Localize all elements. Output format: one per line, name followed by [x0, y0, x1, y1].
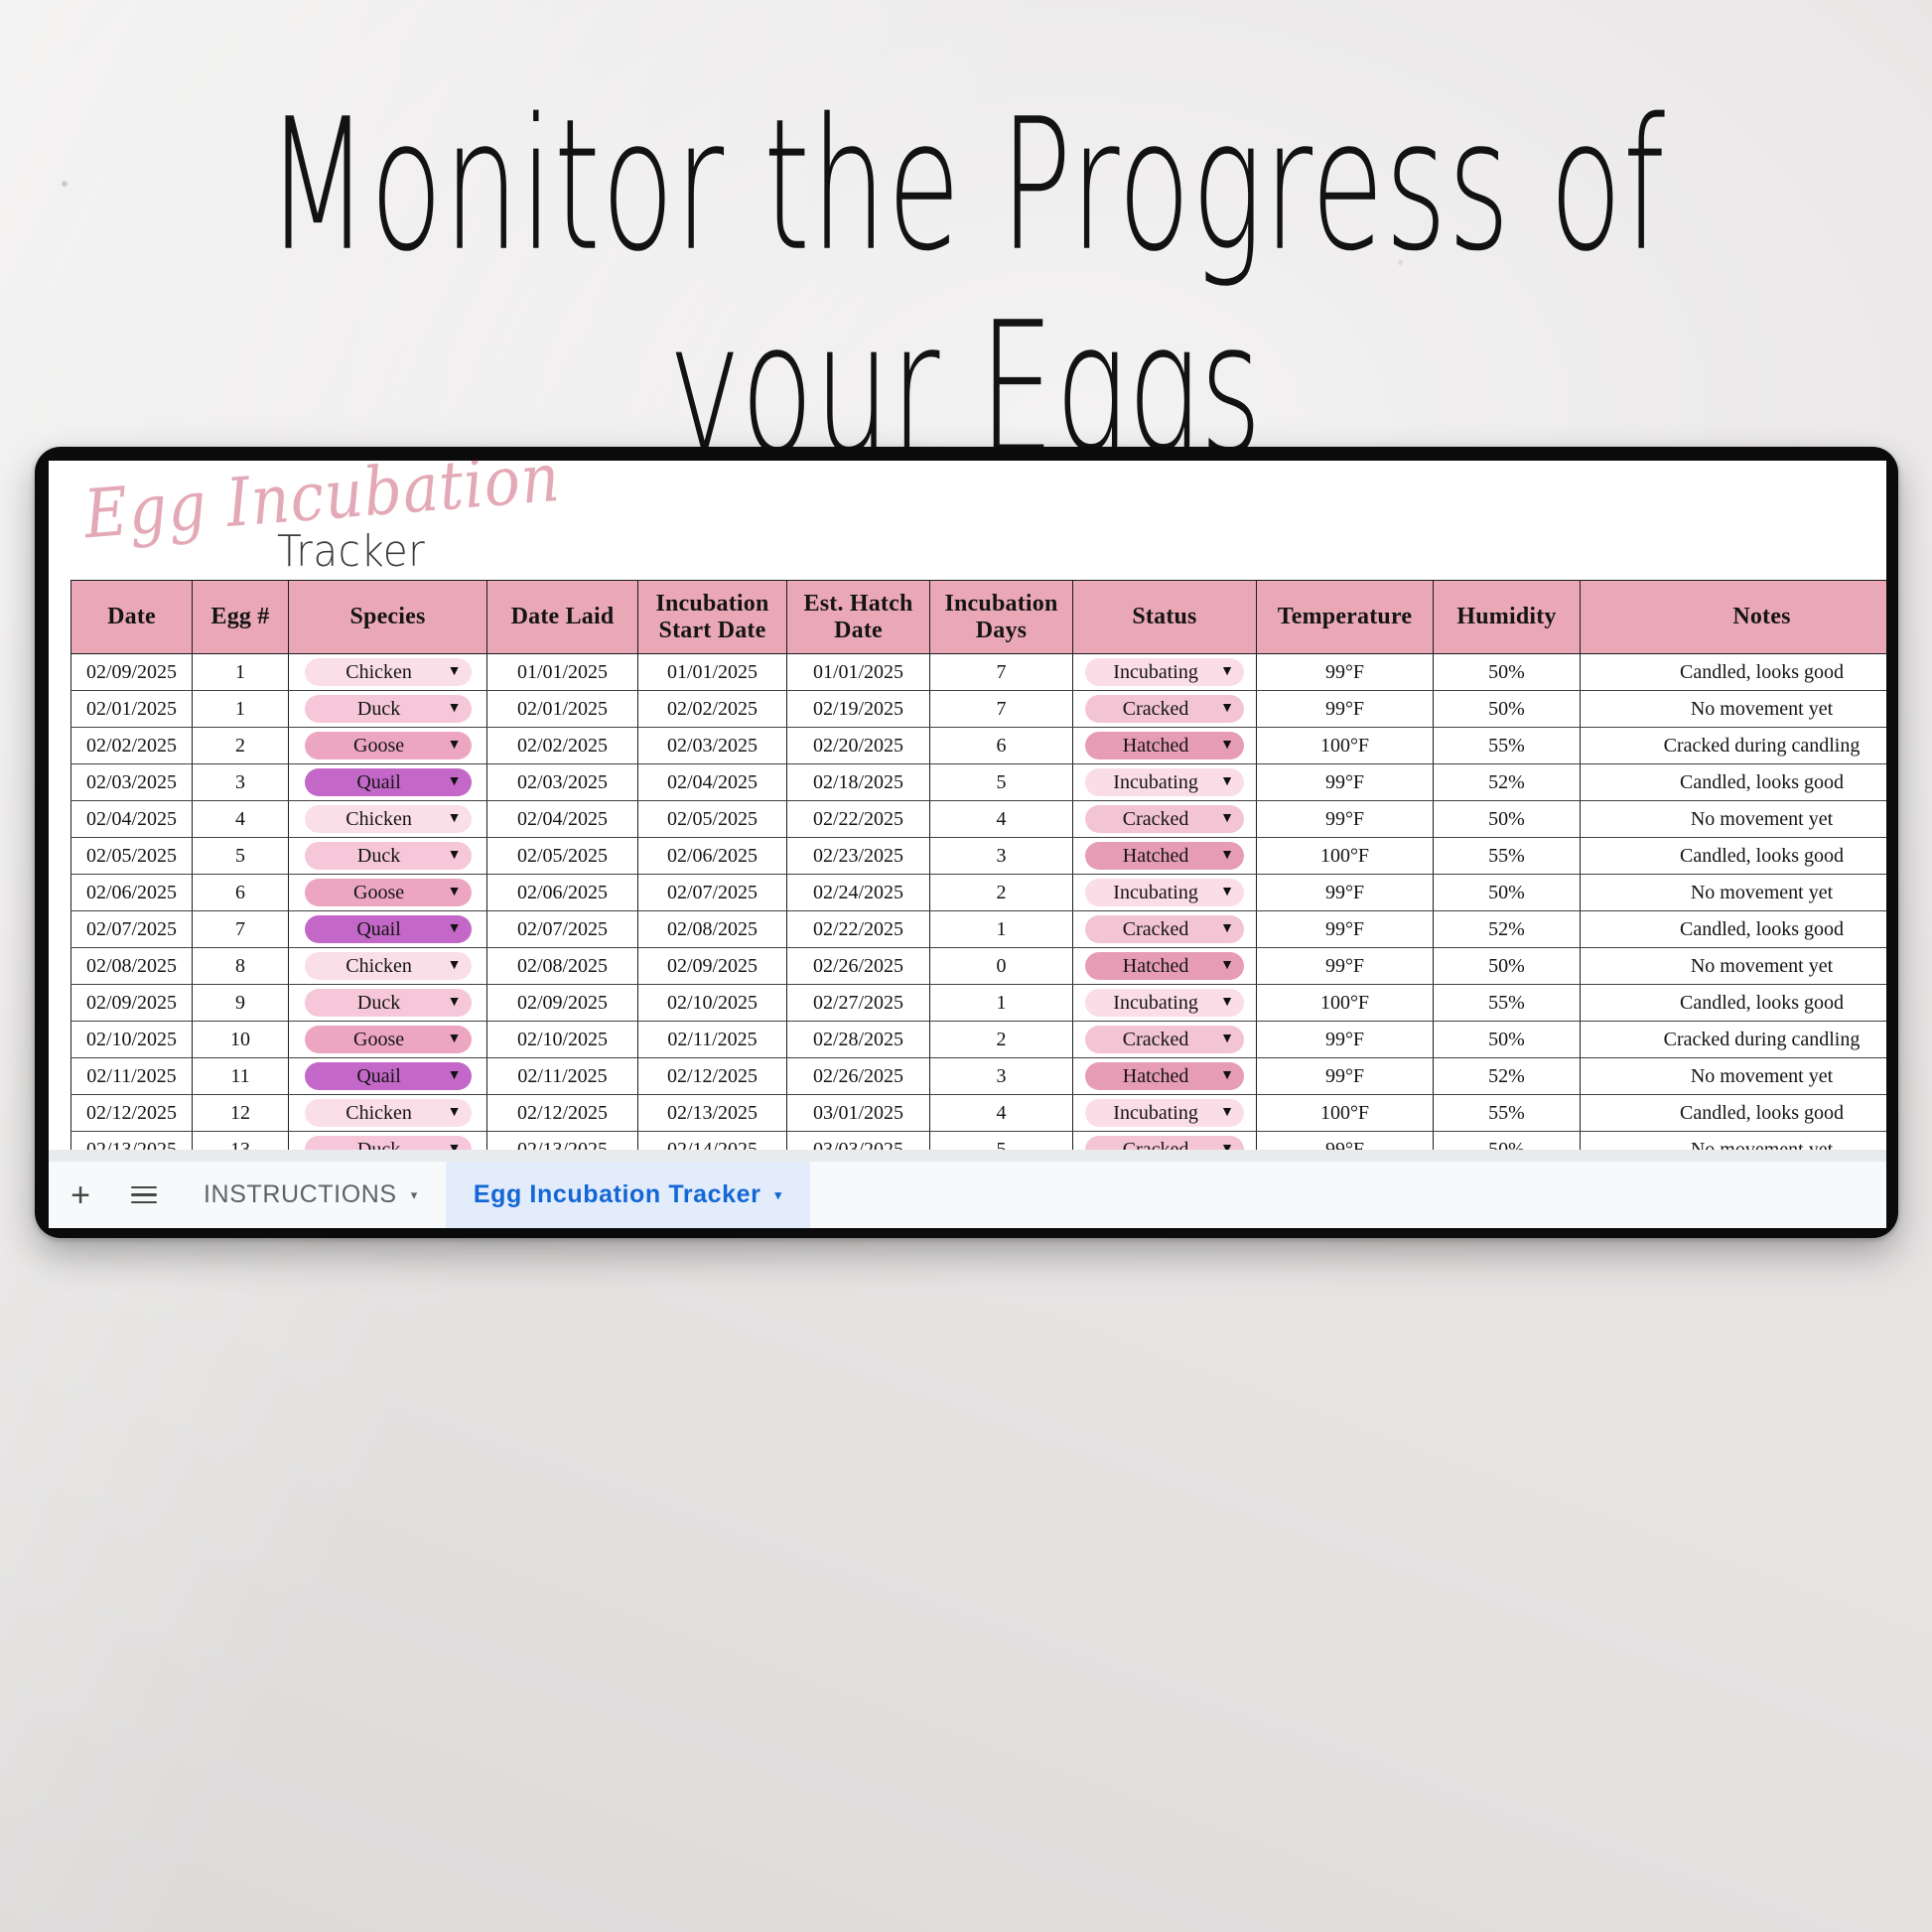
cell-status-label: Incubating	[1099, 882, 1212, 904]
chevron-down-icon[interactable]: ▼	[1220, 775, 1234, 789]
cell-status-chip[interactable]: Incubating▼	[1085, 879, 1244, 906]
cell-species[interactable]: Chicken▼	[289, 654, 487, 691]
table-row: 02/03/20253Quail▼02/03/202502/04/202502/…	[71, 764, 1887, 801]
chevron-down-icon[interactable]: ▼	[448, 849, 462, 863]
cell-species-chip[interactable]: Quail▼	[305, 1062, 472, 1090]
cell-status-label: Incubating	[1099, 992, 1212, 1015]
chevron-down-icon[interactable]: ▼	[448, 922, 462, 936]
cell-humidity[interactable]: 50%	[1434, 654, 1581, 691]
cell-incubation-start-date[interactable]: 02/02/2025	[638, 691, 787, 728]
header-line: Start Date	[642, 618, 782, 644]
cell-status[interactable]: Hatched▼	[1073, 948, 1257, 985]
cell-status-label: Cracked	[1099, 1029, 1212, 1051]
cell-date[interactable]: 02/10/2025	[71, 1022, 193, 1058]
cell-species-chip[interactable]: Duck▼	[305, 989, 472, 1017]
cell-status-label: Incubating	[1099, 771, 1212, 794]
chevron-down-icon[interactable]: ▼	[448, 665, 462, 679]
cell-est-hatch-date[interactable]: 02/26/2025	[787, 948, 930, 985]
cell-date[interactable]: 02/04/2025	[71, 801, 193, 838]
cell-temperature[interactable]: 99°F	[1257, 764, 1434, 801]
cell-incubation-days[interactable]: 3	[930, 838, 1073, 875]
cell-est-hatch-date[interactable]: 02/20/2025	[787, 728, 930, 764]
cell-humidity[interactable]: 50%	[1434, 875, 1581, 911]
cell-species-label: Chicken	[319, 1102, 440, 1125]
table-row: 02/01/20251Duck▼02/01/202502/02/202502/1…	[71, 691, 1887, 728]
table-row: 02/08/20258Chicken▼02/08/202502/09/20250…	[71, 948, 1887, 985]
header-line: Incubation	[642, 591, 782, 618]
cell-incubation-start-date[interactable]: 02/10/2025	[638, 985, 787, 1022]
table-header-row: DateEgg #SpeciesDate LaidIncubationStart…	[71, 581, 1887, 654]
cell-date[interactable]: 02/07/2025	[71, 911, 193, 948]
cell-temperature[interactable]: 99°F	[1257, 1058, 1434, 1095]
cell-date-laid[interactable]: 02/07/2025	[487, 911, 638, 948]
cell-date-laid[interactable]: 02/03/2025	[487, 764, 638, 801]
cell-date[interactable]: 02/12/2025	[71, 1095, 193, 1132]
cell-notes[interactable]: Candled, looks good	[1581, 1095, 1887, 1132]
cell-species[interactable]: Goose▼	[289, 728, 487, 764]
all-sheets-button[interactable]	[112, 1162, 176, 1228]
cell-status-label: Cracked	[1099, 918, 1212, 941]
cell-species[interactable]: Chicken▼	[289, 1095, 487, 1132]
header-line: Temperature	[1261, 604, 1429, 630]
header-line: Humidity	[1438, 604, 1576, 630]
cell-incubation-start-date[interactable]: 02/09/2025	[638, 948, 787, 985]
cell-humidity[interactable]: 55%	[1434, 728, 1581, 764]
chevron-down-icon[interactable]: ▼	[1220, 1106, 1234, 1120]
cell-status-label: Hatched	[1099, 735, 1212, 758]
cell-species[interactable]: Quail▼	[289, 764, 487, 801]
cell-status-label: Hatched	[1099, 845, 1212, 868]
cell-egg-number[interactable]: 2	[193, 728, 289, 764]
cell-date-laid[interactable]: 02/04/2025	[487, 801, 638, 838]
cell-species-chip[interactable]: Duck▼	[305, 842, 472, 870]
chevron-down-icon[interactable]: ▼	[1220, 702, 1234, 716]
cell-temperature[interactable]: 99°F	[1257, 875, 1434, 911]
cell-est-hatch-date[interactable]: 02/18/2025	[787, 764, 930, 801]
cell-incubation-start-date[interactable]: 02/11/2025	[638, 1022, 787, 1058]
col-header-date[interactable]: Date	[71, 581, 193, 654]
chevron-down-icon[interactable]: ▼	[1220, 812, 1234, 826]
cell-incubation-days[interactable]: 2	[930, 1022, 1073, 1058]
cell-incubation-days[interactable]: 2	[930, 875, 1073, 911]
cell-temperature[interactable]: 100°F	[1257, 838, 1434, 875]
plus-icon: +	[70, 1178, 90, 1212]
cell-temperature[interactable]: 99°F	[1257, 1022, 1434, 1058]
header-line: Egg #	[197, 604, 284, 630]
cell-date-laid[interactable]: 02/10/2025	[487, 1022, 638, 1058]
cell-status-chip[interactable]: Hatched▼	[1085, 1062, 1244, 1090]
cell-species-label: Goose	[319, 1029, 440, 1051]
cell-status-label: Hatched	[1099, 955, 1212, 978]
cell-temperature[interactable]: 100°F	[1257, 1095, 1434, 1132]
cell-status[interactable]: Hatched▼	[1073, 1058, 1257, 1095]
chevron-down-icon[interactable]: ▾	[775, 1187, 782, 1203]
cell-incubation-start-date[interactable]: 02/07/2025	[638, 875, 787, 911]
cell-species[interactable]: Quail▼	[289, 1058, 487, 1095]
chevron-down-icon[interactable]: ▼	[448, 775, 462, 789]
cell-status[interactable]: Incubating▼	[1073, 985, 1257, 1022]
cell-notes[interactable]: No movement yet	[1581, 948, 1887, 985]
background-speck	[62, 181, 68, 187]
spreadsheet-screen: Egg Incubation Tracker DateEgg #SpeciesD…	[49, 461, 1886, 1228]
cell-date[interactable]: 02/05/2025	[71, 838, 193, 875]
add-sheet-button[interactable]: +	[49, 1162, 112, 1228]
cell-status[interactable]: Incubating▼	[1073, 875, 1257, 911]
col-header-temperature[interactable]: Temperature	[1257, 581, 1434, 654]
cell-species-label: Chicken	[319, 808, 440, 831]
sheet-body: Egg Incubation Tracker DateEgg #SpeciesD…	[49, 461, 1886, 1161]
cell-humidity[interactable]: 55%	[1434, 985, 1581, 1022]
sheet-tab-egg-incubation-tracker[interactable]: Egg Incubation Tracker▾	[446, 1162, 810, 1228]
chevron-down-icon[interactable]: ▼	[448, 1069, 462, 1083]
chevron-down-icon[interactable]: ▼	[448, 996, 462, 1010]
cell-date[interactable]: 02/08/2025	[71, 948, 193, 985]
cell-species-chip[interactable]: Duck▼	[305, 695, 472, 723]
table-viewport[interactable]: DateEgg #SpeciesDate LaidIncubationStart…	[70, 580, 1886, 1161]
cell-species-chip[interactable]: Quail▼	[305, 768, 472, 796]
cell-date-laid[interactable]: 02/08/2025	[487, 948, 638, 985]
cell-date[interactable]: 02/02/2025	[71, 728, 193, 764]
cell-status-label: Hatched	[1099, 1065, 1212, 1088]
cell-incubation-days[interactable]: 1	[930, 985, 1073, 1022]
table-row: 02/05/20255Duck▼02/05/202502/06/202502/2…	[71, 838, 1887, 875]
cell-species-label: Chicken	[319, 661, 440, 684]
cell-date[interactable]: 02/01/2025	[71, 691, 193, 728]
cell-date-laid[interactable]: 01/01/2025	[487, 654, 638, 691]
cell-temperature[interactable]: 99°F	[1257, 691, 1434, 728]
headline-line-1: Monitor the Progress of	[194, 95, 1739, 277]
cell-status-label: Incubating	[1099, 1102, 1212, 1125]
cell-est-hatch-date[interactable]: 02/27/2025	[787, 985, 930, 1022]
header-line: Notes	[1585, 604, 1886, 630]
cell-incubation-start-date[interactable]: 02/06/2025	[638, 838, 787, 875]
col-header-est-hatch-date[interactable]: Est. HatchDate	[787, 581, 930, 654]
table-row: 02/09/20259Duck▼02/09/202502/10/202502/2…	[71, 985, 1887, 1022]
cell-incubation-days[interactable]: 6	[930, 728, 1073, 764]
cell-species-label: Duck	[319, 698, 440, 721]
cell-date-laid[interactable]: 02/01/2025	[487, 691, 638, 728]
cell-species-chip[interactable]: Chicken▼	[305, 1099, 472, 1127]
cell-humidity[interactable]: 50%	[1434, 1022, 1581, 1058]
table-row: 02/04/20254Chicken▼02/04/202502/05/20250…	[71, 801, 1887, 838]
col-header-incubation-days[interactable]: IncubationDays	[930, 581, 1073, 654]
cell-egg-number[interactable]: 1	[193, 691, 289, 728]
all-sheets-icon	[131, 1181, 157, 1209]
cell-temperature[interactable]: 100°F	[1257, 985, 1434, 1022]
chevron-down-icon[interactable]: ▼	[448, 886, 462, 899]
cell-est-hatch-date[interactable]: 01/01/2025	[787, 654, 930, 691]
col-header-humidity[interactable]: Humidity	[1434, 581, 1581, 654]
chevron-down-icon[interactable]: ▼	[1220, 739, 1234, 753]
cell-species-label: Quail	[319, 771, 440, 794]
cell-incubation-days[interactable]: 1	[930, 911, 1073, 948]
cell-notes[interactable]: Candled, looks good	[1581, 985, 1887, 1022]
table-row: 02/09/20251Chicken▼01/01/202501/01/20250…	[71, 654, 1887, 691]
sheet-logo: Egg Incubation Tracker	[49, 461, 1886, 578]
cell-humidity[interactable]: 52%	[1434, 1058, 1581, 1095]
cell-status-chip[interactable]: Hatched▼	[1085, 732, 1244, 759]
cell-egg-number[interactable]: 12	[193, 1095, 289, 1132]
cell-date-laid[interactable]: 02/09/2025	[487, 985, 638, 1022]
cell-species[interactable]: Duck▼	[289, 985, 487, 1022]
cell-incubation-days[interactable]: 4	[930, 1095, 1073, 1132]
cell-incubation-days[interactable]: 0	[930, 948, 1073, 985]
cell-status-chip[interactable]: Cracked▼	[1085, 695, 1244, 723]
cell-temperature[interactable]: 99°F	[1257, 948, 1434, 985]
cell-egg-number[interactable]: 9	[193, 985, 289, 1022]
cell-species-chip[interactable]: Chicken▼	[305, 952, 472, 980]
cell-date-laid[interactable]: 02/12/2025	[487, 1095, 638, 1132]
cell-est-hatch-date[interactable]: 02/22/2025	[787, 911, 930, 948]
header-line: Days	[934, 618, 1068, 644]
cell-est-hatch-date[interactable]: 02/22/2025	[787, 801, 930, 838]
cell-temperature[interactable]: 99°F	[1257, 801, 1434, 838]
cell-temperature[interactable]: 99°F	[1257, 654, 1434, 691]
cell-est-hatch-date[interactable]: 02/24/2025	[787, 875, 930, 911]
header-line: Date	[75, 604, 188, 630]
col-header-incubation-start-date[interactable]: IncubationStart Date	[638, 581, 787, 654]
cell-status[interactable]: Hatched▼	[1073, 838, 1257, 875]
cell-notes[interactable]: Candled, looks good	[1581, 764, 1887, 801]
cell-notes[interactable]: Cracked during candling	[1581, 728, 1887, 764]
table-row: 02/10/202510Goose▼02/10/202502/11/202502…	[71, 1022, 1887, 1058]
cell-species[interactable]: Goose▼	[289, 1022, 487, 1058]
cell-notes[interactable]: No movement yet	[1581, 1058, 1887, 1095]
cell-egg-number[interactable]: 11	[193, 1058, 289, 1095]
cell-incubation-start-date[interactable]: 02/12/2025	[638, 1058, 787, 1095]
cell-notes[interactable]: No movement yet	[1581, 875, 1887, 911]
header-line: Species	[293, 604, 483, 630]
cell-incubation-start-date[interactable]: 02/05/2025	[638, 801, 787, 838]
chevron-down-icon[interactable]: ▼	[1220, 1069, 1234, 1083]
cell-species[interactable]: Quail▼	[289, 911, 487, 948]
table-row: 02/02/20252Goose▼02/02/202502/03/202502/…	[71, 728, 1887, 764]
cell-incubation-days[interactable]: 4	[930, 801, 1073, 838]
cell-egg-number[interactable]: 3	[193, 764, 289, 801]
cell-humidity[interactable]: 52%	[1434, 911, 1581, 948]
cell-date-laid[interactable]: 02/11/2025	[487, 1058, 638, 1095]
cell-notes[interactable]: No movement yet	[1581, 691, 1887, 728]
cell-date[interactable]: 02/11/2025	[71, 1058, 193, 1095]
cell-egg-number[interactable]: 7	[193, 911, 289, 948]
cell-egg-number[interactable]: 1	[193, 654, 289, 691]
cell-species-label: Goose	[319, 735, 440, 758]
table-row: 02/11/202511Quail▼02/11/202502/12/202502…	[71, 1058, 1887, 1095]
cell-humidity[interactable]: 50%	[1434, 801, 1581, 838]
cell-incubation-start-date[interactable]: 02/03/2025	[638, 728, 787, 764]
cell-incubation-start-date[interactable]: 02/08/2025	[638, 911, 787, 948]
chevron-down-icon[interactable]: ▼	[448, 739, 462, 753]
chevron-down-icon[interactable]: ▼	[448, 1033, 462, 1046]
cell-status[interactable]: Cracked▼	[1073, 1022, 1257, 1058]
cell-incubation-days[interactable]: 5	[930, 764, 1073, 801]
cell-date[interactable]: 02/03/2025	[71, 764, 193, 801]
cell-humidity[interactable]: 55%	[1434, 1095, 1581, 1132]
cell-species-label: Quail	[319, 1065, 440, 1088]
cell-date[interactable]: 02/09/2025	[71, 654, 193, 691]
cell-egg-number[interactable]: 6	[193, 875, 289, 911]
cell-species[interactable]: Chicken▼	[289, 948, 487, 985]
cell-humidity[interactable]: 52%	[1434, 764, 1581, 801]
cell-humidity[interactable]: 50%	[1434, 691, 1581, 728]
col-header-status[interactable]: Status	[1073, 581, 1257, 654]
cell-incubation-days[interactable]: 3	[930, 1058, 1073, 1095]
chevron-down-icon[interactable]: ▼	[1220, 959, 1234, 973]
cell-status[interactable]: Cracked▼	[1073, 801, 1257, 838]
cell-species-label: Quail	[319, 918, 440, 941]
chevron-down-icon[interactable]: ▼	[1220, 922, 1234, 936]
cell-status[interactable]: Incubating▼	[1073, 764, 1257, 801]
sheet-tab-label: Egg Incubation Tracker	[474, 1180, 761, 1209]
chevron-down-icon[interactable]: ▼	[1220, 1033, 1234, 1046]
cell-status[interactable]: Cracked▼	[1073, 911, 1257, 948]
table-row: 02/07/20257Quail▼02/07/202502/08/202502/…	[71, 911, 1887, 948]
sheet-tab-instructions[interactable]: INSTRUCTIONS▾	[176, 1162, 446, 1228]
cell-date[interactable]: 02/06/2025	[71, 875, 193, 911]
cell-species-chip[interactable]: Goose▼	[305, 879, 472, 906]
cell-status-chip[interactable]: Hatched▼	[1085, 842, 1244, 870]
cell-notes[interactable]: No movement yet	[1581, 801, 1887, 838]
cell-humidity[interactable]: 55%	[1434, 838, 1581, 875]
cell-species[interactable]: Chicken▼	[289, 801, 487, 838]
sheet-tab-bar: + INSTRUCTIONS▾Egg Incubation Tracker▾	[49, 1161, 1886, 1228]
cell-species[interactable]: Duck▼	[289, 691, 487, 728]
cell-egg-number[interactable]: 5	[193, 838, 289, 875]
cell-est-hatch-date[interactable]: 02/26/2025	[787, 1058, 930, 1095]
cell-species-label: Duck	[319, 845, 440, 868]
cell-incubation-start-date[interactable]: 01/01/2025	[638, 654, 787, 691]
col-header-egg[interactable]: Egg #	[193, 581, 289, 654]
cell-species-chip[interactable]: Chicken▼	[305, 805, 472, 833]
chevron-down-icon[interactable]: ▼	[448, 1106, 462, 1120]
header-line: Status	[1077, 604, 1252, 630]
cell-status[interactable]: Cracked▼	[1073, 691, 1257, 728]
cell-status-chip[interactable]: Cracked▼	[1085, 1026, 1244, 1053]
cell-temperature[interactable]: 100°F	[1257, 728, 1434, 764]
cell-status-label: Incubating	[1099, 661, 1212, 684]
chevron-down-icon[interactable]: ▼	[1220, 996, 1234, 1010]
cell-egg-number[interactable]: 4	[193, 801, 289, 838]
table-row: 02/06/20256Goose▼02/06/202502/07/202502/…	[71, 875, 1887, 911]
cell-status[interactable]: Incubating▼	[1073, 1095, 1257, 1132]
cell-notes[interactable]: Candled, looks good	[1581, 838, 1887, 875]
cell-species-chip[interactable]: Goose▼	[305, 732, 472, 759]
cell-status-label: Cracked	[1099, 698, 1212, 721]
chevron-down-icon[interactable]: ▼	[448, 959, 462, 973]
cell-species-label: Duck	[319, 992, 440, 1015]
cell-status-label: Cracked	[1099, 808, 1212, 831]
table-row: 02/12/202512Chicken▼02/12/202502/13/2025…	[71, 1095, 1887, 1132]
page-headline: Monitor the Progress of your Eggs	[194, 95, 1739, 481]
logo-sub-text: Tracker	[277, 526, 425, 577]
cell-notes[interactable]: Cracked during candling	[1581, 1022, 1887, 1058]
header-line: Incubation	[934, 591, 1068, 618]
cell-species[interactable]: Duck▼	[289, 838, 487, 875]
cell-date-laid[interactable]: 02/02/2025	[487, 728, 638, 764]
cell-status[interactable]: Hatched▼	[1073, 728, 1257, 764]
cell-est-hatch-date[interactable]: 03/01/2025	[787, 1095, 930, 1132]
cell-date-laid[interactable]: 02/05/2025	[487, 838, 638, 875]
cell-status-chip[interactable]: Incubating▼	[1085, 989, 1244, 1017]
cell-incubation-days[interactable]: 7	[930, 691, 1073, 728]
chevron-down-icon[interactable]: ▼	[448, 702, 462, 716]
cell-est-hatch-date[interactable]: 02/28/2025	[787, 1022, 930, 1058]
cell-notes[interactable]: Candled, looks good	[1581, 654, 1887, 691]
cell-egg-number[interactable]: 8	[193, 948, 289, 985]
cell-species-label: Chicken	[319, 955, 440, 978]
cell-status-chip[interactable]: Cracked▼	[1085, 915, 1244, 943]
chevron-down-icon[interactable]: ▼	[1220, 886, 1234, 899]
chevron-down-icon[interactable]: ▼	[1220, 849, 1234, 863]
cell-status-chip[interactable]: Cracked▼	[1085, 805, 1244, 833]
egg-incubation-table: DateEgg #SpeciesDate LaidIncubationStart…	[70, 580, 1886, 1161]
cell-date[interactable]: 02/09/2025	[71, 985, 193, 1022]
header-line: Date Laid	[491, 604, 633, 630]
cell-status-chip[interactable]: Incubating▼	[1085, 768, 1244, 796]
sheet-tab-label: INSTRUCTIONS	[204, 1180, 397, 1209]
chevron-down-icon[interactable]: ▼	[448, 812, 462, 826]
col-header-date-laid[interactable]: Date Laid	[487, 581, 638, 654]
chevron-down-icon[interactable]: ▾	[411, 1187, 418, 1203]
cell-incubation-start-date[interactable]: 02/04/2025	[638, 764, 787, 801]
chevron-down-icon[interactable]: ▼	[1220, 665, 1234, 679]
cell-temperature[interactable]: 99°F	[1257, 911, 1434, 948]
cell-humidity[interactable]: 50%	[1434, 948, 1581, 985]
device-frame: Egg Incubation Tracker DateEgg #SpeciesD…	[35, 447, 1898, 1238]
cell-incubation-days[interactable]: 7	[930, 654, 1073, 691]
col-header-notes[interactable]: Notes	[1581, 581, 1887, 654]
table-body: 02/09/20251Chicken▼01/01/202501/01/20250…	[71, 654, 1887, 1162]
cell-species-label: Goose	[319, 882, 440, 904]
cell-status-chip[interactable]: Incubating▼	[1085, 1099, 1244, 1127]
cell-est-hatch-date[interactable]: 02/19/2025	[787, 691, 930, 728]
header-line: Est. Hatch	[791, 591, 925, 618]
cell-date-laid[interactable]: 02/06/2025	[487, 875, 638, 911]
cell-species-chip[interactable]: Chicken▼	[305, 658, 472, 686]
cell-species-chip[interactable]: Goose▼	[305, 1026, 472, 1053]
col-header-species[interactable]: Species	[289, 581, 487, 654]
cell-status-chip[interactable]: Incubating▼	[1085, 658, 1244, 686]
cell-status-chip[interactable]: Hatched▼	[1085, 952, 1244, 980]
cell-species[interactable]: Goose▼	[289, 875, 487, 911]
cell-species-chip[interactable]: Quail▼	[305, 915, 472, 943]
cell-status[interactable]: Incubating▼	[1073, 654, 1257, 691]
cell-incubation-start-date[interactable]: 02/13/2025	[638, 1095, 787, 1132]
cell-egg-number[interactable]: 10	[193, 1022, 289, 1058]
header-line: Date	[791, 618, 925, 644]
cell-notes[interactable]: Candled, looks good	[1581, 911, 1887, 948]
cell-est-hatch-date[interactable]: 02/23/2025	[787, 838, 930, 875]
